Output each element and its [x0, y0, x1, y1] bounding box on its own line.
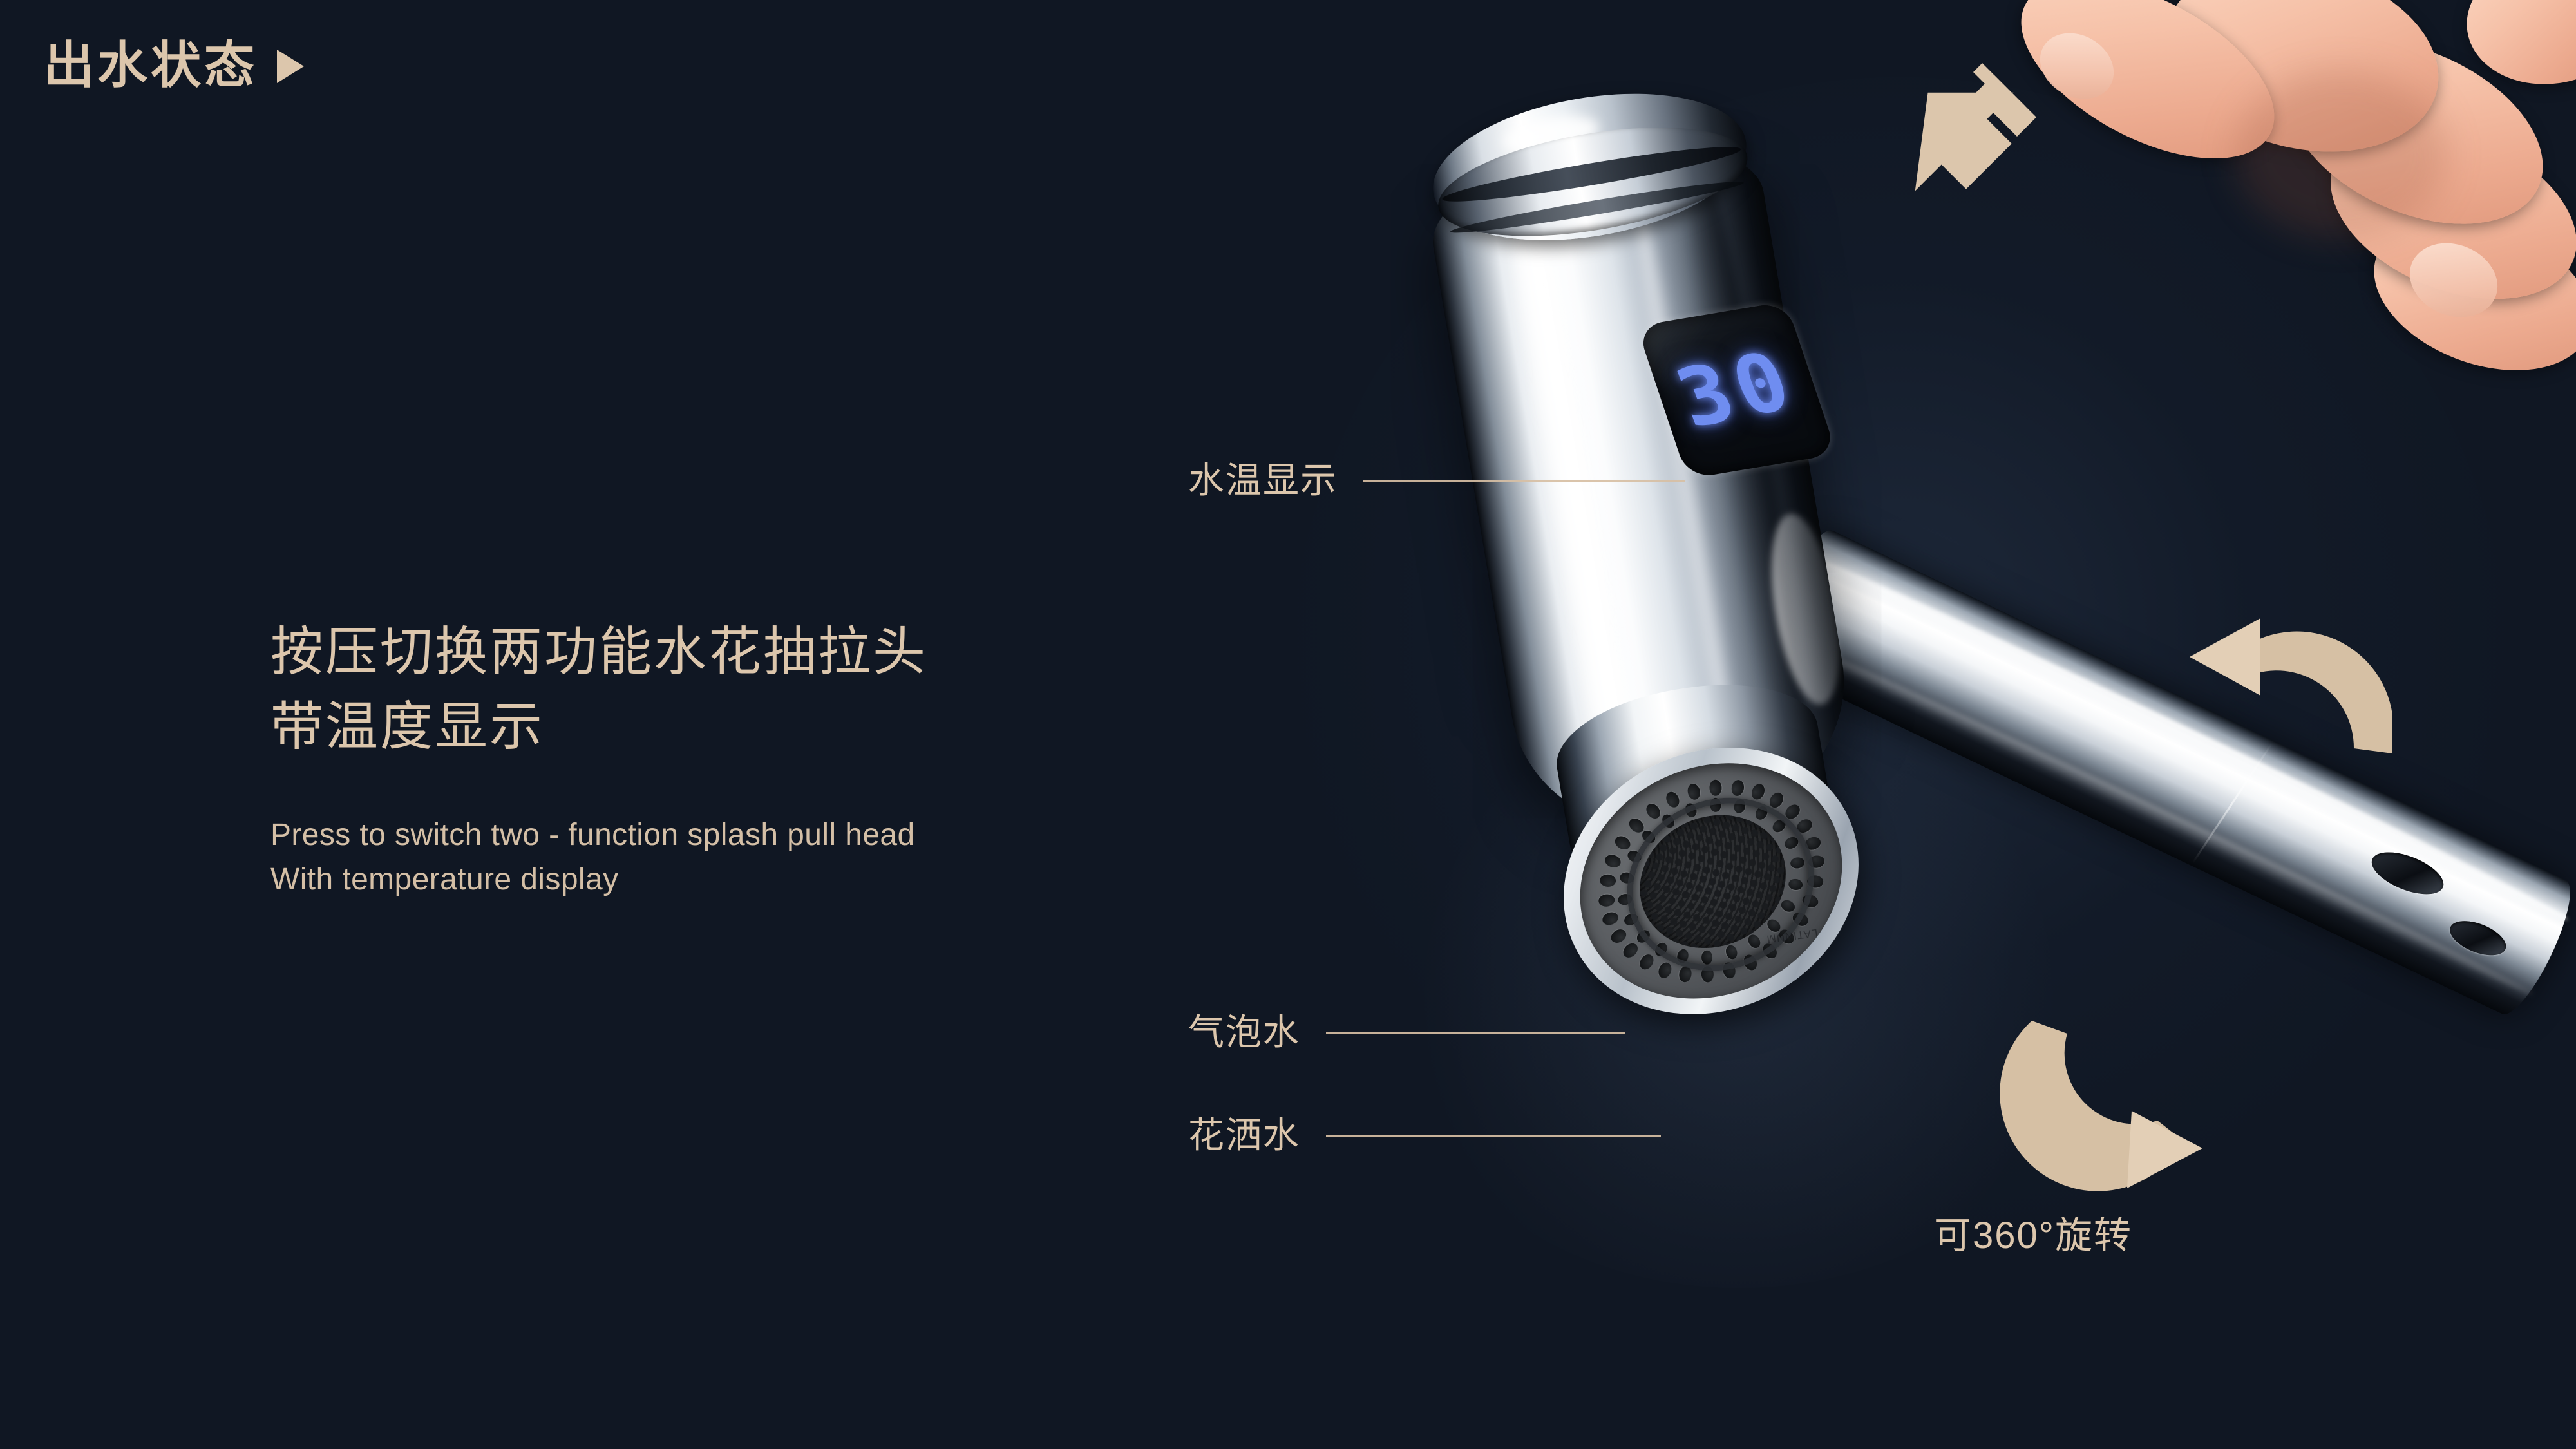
- shower-hole: [1609, 927, 1629, 945]
- callout-leader-line-shower-water: [1326, 1135, 1661, 1137]
- section-header: 出水状态: [44, 40, 304, 90]
- shower-hole: [1709, 780, 1722, 796]
- shower-hole: [1730, 779, 1745, 797]
- shower-hole: [1598, 893, 1615, 907]
- shower-hole: [1620, 940, 1640, 960]
- temperature-reading: 30: [1667, 340, 1806, 440]
- shower-hole: [1601, 911, 1620, 927]
- rotate-arrow-icon-upper: [2170, 580, 2428, 811]
- headline-cn-line-2: 带温度显示: [270, 690, 927, 764]
- callout-label-aerated-water: 气泡水: [1188, 1014, 1300, 1050]
- callout-water-temp-display: 水温显示: [1188, 462, 1685, 498]
- shower-hole: [1643, 801, 1663, 821]
- shower-hole: [1663, 790, 1681, 810]
- shower-hole: [1686, 782, 1701, 801]
- subhead-en-line-1: Press to switch two - function splash pu…: [270, 813, 927, 858]
- faucet-spout-arm: [1752, 522, 2576, 1022]
- callout-aerated-water: 气泡水: [1188, 1014, 1625, 1050]
- callout-label-water-temp: 水温显示: [1188, 462, 1338, 498]
- callout-label-shower-water: 花洒水: [1188, 1117, 1300, 1153]
- hand-shading: [2235, 71, 2447, 238]
- subhead-en-line-2: With temperature display: [270, 857, 927, 902]
- page-title: 出水状态: [44, 40, 258, 90]
- shower-hole: [1637, 952, 1656, 972]
- hand-pressing-button: [2022, 0, 2576, 374]
- play-triangle-icon: [277, 50, 304, 83]
- callout-shower-water: 花洒水: [1188, 1117, 1661, 1153]
- press-down-arrow-icon: [1868, 58, 2061, 206]
- rotate-arrow-icon-lower: [1993, 995, 2251, 1220]
- callout-leader-line-water-temp: [1363, 480, 1685, 482]
- slide-canvas: 出水状态 按压切换两功能水花抽拉头 带温度显示 Press to switch …: [0, 0, 2576, 1449]
- feature-copy-block: 按压切换两功能水花抽拉头 带温度显示 Press to switch two -…: [270, 615, 927, 902]
- shower-hole: [1599, 874, 1616, 887]
- rotate-360-label: 可360°旋转: [1934, 1217, 2132, 1255]
- callout-leader-line-aerated-water: [1326, 1032, 1625, 1034]
- headline-cn-line-1: 按压切换两功能水花抽拉头: [270, 615, 927, 690]
